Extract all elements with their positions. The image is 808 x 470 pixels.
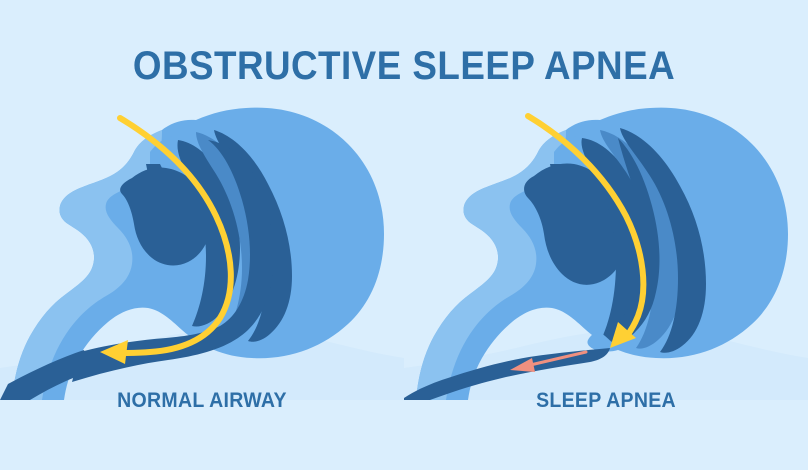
diagram-normal-airway bbox=[0, 100, 404, 400]
caption-normal-airway: NORMAL AIRWAY bbox=[14, 389, 390, 413]
sleep-apnea-svg bbox=[404, 100, 808, 400]
infographic-poster: OBSTRUCTIVE SLEEP APNEA bbox=[0, 0, 808, 470]
diagram-sleep-apnea bbox=[404, 100, 808, 400]
page-title: OBSTRUCTIVE SLEEP APNEA bbox=[32, 44, 775, 89]
normal-airway-svg bbox=[0, 100, 404, 400]
caption-sleep-apnea: SLEEP APNEA bbox=[418, 389, 794, 413]
